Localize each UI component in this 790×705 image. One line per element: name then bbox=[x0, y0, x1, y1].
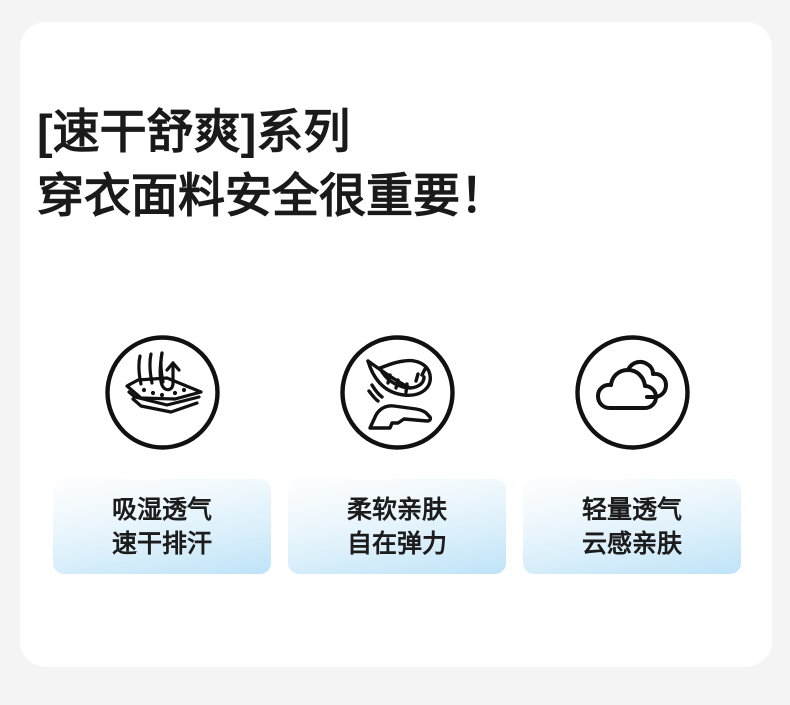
feature-label-line-2: 云感亲肤 bbox=[582, 527, 682, 561]
page-title-line-1: [速干舒爽]系列 bbox=[37, 100, 507, 164]
promo-card: [速干舒爽]系列 穿衣面料安全很重要！ bbox=[20, 22, 772, 667]
feature-label-line-1: 吸湿透气 bbox=[112, 493, 212, 527]
feature-label-line-1: 柔软亲肤 bbox=[347, 493, 447, 527]
feature-label-line-2: 速干排汗 bbox=[112, 527, 212, 561]
feature-item-lightweight: 轻量透气 云感亲肤 bbox=[523, 335, 741, 574]
feature-label-soft-touch: 柔软亲肤 自在弹力 bbox=[288, 479, 506, 574]
clouds-icon bbox=[575, 335, 690, 450]
feature-list: 吸湿透气 速干排汗 bbox=[53, 335, 741, 574]
feature-label-line-2: 自在弹力 bbox=[347, 527, 447, 561]
feature-label-moisture-wicking: 吸湿透气 速干排汗 bbox=[53, 479, 271, 574]
feature-label-line-1: 轻量透气 bbox=[582, 493, 682, 527]
page-title-line-2: 穿衣面料安全很重要！ bbox=[37, 164, 507, 228]
page-title: [速干舒爽]系列 穿衣面料安全很重要！ bbox=[37, 100, 507, 228]
feather-on-hand-icon bbox=[340, 335, 455, 450]
feature-item-moisture-wicking: 吸湿透气 速干排汗 bbox=[53, 335, 271, 574]
feature-label-lightweight: 轻量透气 云感亲肤 bbox=[523, 479, 741, 574]
fabric-breathable-icon bbox=[105, 335, 220, 450]
promo-page: [速干舒爽]系列 穿衣面料安全很重要！ bbox=[0, 0, 790, 705]
feature-item-soft-touch: 柔软亲肤 自在弹力 bbox=[288, 335, 506, 574]
